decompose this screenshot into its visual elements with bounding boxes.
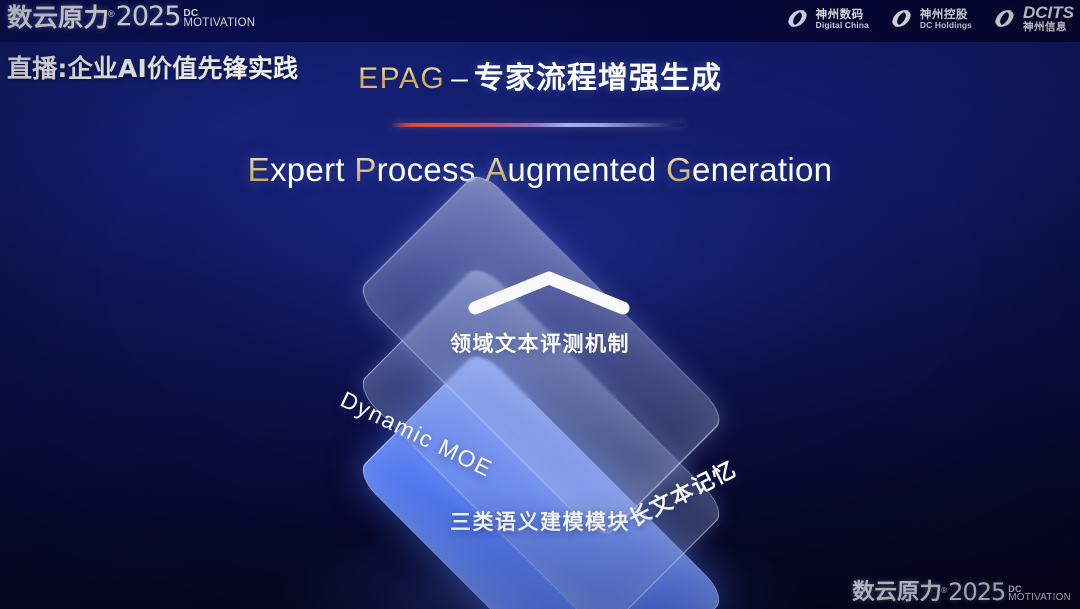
partner-logo-dc-holdings: 神州控股 DC Holdings (888, 5, 972, 32)
partner-name-en: DC Holdings (920, 21, 972, 30)
subtitle-word-process: rocess (377, 151, 476, 188)
diagram-label-top: 领域文本评测机制 (274, 328, 806, 358)
brand-dc-motivation: DC MOTIVATION (1008, 585, 1071, 603)
subtitle-word-expert: xpert (270, 151, 345, 188)
brand-year: 2025 (116, 3, 181, 30)
chevron-up-icon (465, 268, 633, 316)
page-subtitle: Expert Process Augmented Generation (0, 151, 1080, 189)
diagram-label-bottom: 三类语义建模模块 (274, 506, 806, 536)
slide-canvas: 数云原力 ® 2025 DC MOTIVATION 直播:企业AI价值先锋实践 … (0, 0, 1080, 609)
partner-text-dcits: DCITS 神州信息 (1023, 4, 1074, 33)
registered-mark: ® (108, 9, 115, 19)
brand-year: 2025 (948, 580, 1005, 604)
title-divider (392, 123, 684, 127)
partner-name-cn: 神州控股 (920, 8, 972, 20)
subtitle-cap-e: E (248, 151, 270, 188)
subtitle-cap-g: G (666, 151, 692, 188)
partner-name-en: DCITS (1023, 4, 1074, 21)
title-acronym: EPAG (358, 62, 445, 95)
partner-logo-dcits: DCITS 神州信息 (991, 4, 1074, 33)
brand-logo-top-left: 数云原力 ® 2025 DC MOTIVATION (8, 3, 255, 30)
brand-name-cn: 数云原力 (7, 5, 109, 30)
registered-mark: ® (941, 586, 947, 595)
partner-name-en: Digital China (816, 21, 869, 30)
brand-motivation-label: MOTIVATION (183, 18, 255, 30)
partner-name-cn: 神州数码 (816, 8, 869, 20)
brand-logo-bottom-right: 数云原力 ® 2025 DC MOTIVATION (853, 580, 1071, 604)
brand-dc-motivation: DC MOTIVATION (183, 9, 255, 30)
layered-architecture-diagram: 领域文本评测机制 Dynamic MOE 长文本记忆 三类语义建模模块 (274, 216, 806, 586)
partner-text-digital-china: 神州数码 Digital China (816, 8, 869, 30)
partner-logo-digital-china: 神州数码 Digital China (784, 5, 869, 32)
brand-motivation-label: MOTIVATION (1008, 593, 1071, 603)
subtitle-word-augmented: ugmented (507, 151, 656, 188)
page-title: EPAG–专家流程增强生成 (0, 53, 1080, 97)
swirl-logo-icon (784, 5, 811, 32)
brand-name-cn: 数云原力 (852, 582, 942, 604)
subtitle-cap-p: P (354, 151, 376, 188)
swirl-logo-icon (888, 5, 915, 32)
partner-text-dc-holdings: 神州控股 DC Holdings (920, 8, 972, 30)
swirl-logo-icon (991, 5, 1018, 32)
partner-logo-group: 神州数码 Digital China 神州控股 DC Holdings DCIT… (784, 4, 1074, 33)
title-chinese: 专家流程增强生成 (474, 61, 722, 96)
subtitle-word-generation: eneration (692, 151, 832, 188)
title-dash: – (451, 62, 468, 95)
partner-name-cn: 神州信息 (1023, 22, 1074, 33)
